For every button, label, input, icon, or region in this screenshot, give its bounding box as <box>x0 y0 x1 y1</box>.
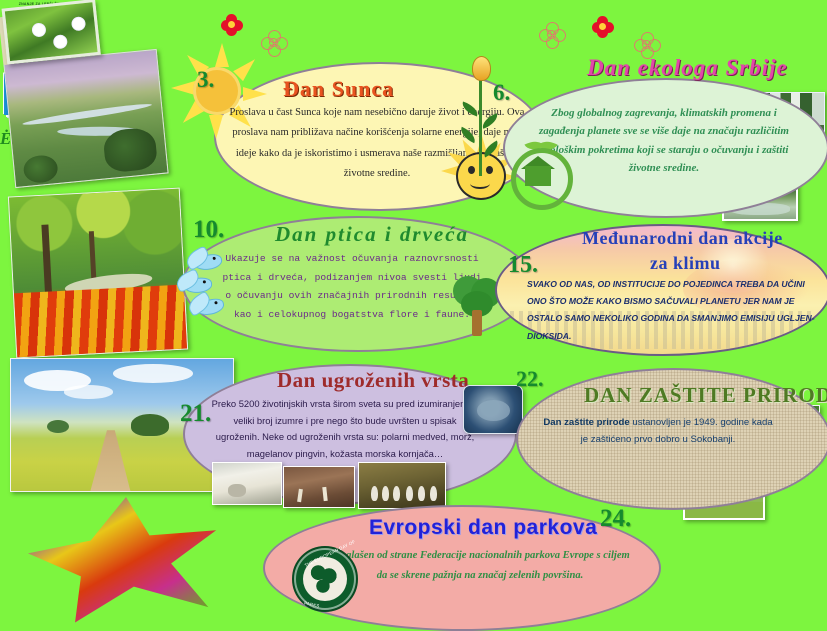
photo-detail <box>64 385 113 398</box>
photo-detail <box>113 364 193 382</box>
text-dan-ptica-i-drveca: Ukazuje se na važnost očuvanja raznovrsn… <box>218 250 486 325</box>
text-dan-ugrozenih-vrsta: Preko 5200 životinjskih vrsta širom svet… <box>211 396 479 463</box>
outline-flower-icon <box>634 32 660 58</box>
text-klima: SVAKO OD NAS, OD INSTITUCIJE DO POJEDINC… <box>527 276 819 345</box>
text-highlight: Dan zaštite prirode <box>543 417 629 428</box>
title-dan-zastite-prirode: DAN ZAŠTITE PRIRODE <box>584 383 827 408</box>
outline-flower-icon <box>261 30 287 56</box>
title-klima-line1: Međunarodni dan akcije <box>582 228 783 249</box>
photo-penguins <box>358 462 446 509</box>
photo-flowers-star <box>28 497 224 625</box>
photo-detail <box>22 154 58 184</box>
photo-detail <box>86 430 135 491</box>
eco-calendar-poster: ZNANJE ZA LEPŠI ŽIVOT! Osnovna škola "Ra… <box>0 0 827 631</box>
text-evropski-dan-parkova: Proglašen od strane Federacije nacionaln… <box>330 546 630 586</box>
day-number-22: 22. <box>516 366 544 392</box>
photo-detail <box>103 127 158 174</box>
red-flower-icon <box>221 14 243 36</box>
day-number-15: 15. <box>508 252 538 279</box>
photo-polar-bear <box>212 462 282 505</box>
photo-detail <box>22 101 152 127</box>
outline-flower-icon <box>539 22 565 48</box>
european-day-of-parks-logo: THE EUROPEAN DAY OF PARKS <box>292 546 358 612</box>
title-dan-ekologa-srbije: Dan ekologa Srbije <box>587 55 788 81</box>
title-dan-ugrozenih-vrsta: Dan ugroženih vrsta <box>277 368 469 393</box>
title-klima-line2: za klimu <box>650 253 721 274</box>
title-evropski-dan-parkova: Evropski dan parkova <box>369 516 597 540</box>
rose-icon <box>458 56 502 178</box>
photo-book-with-flowers <box>0 0 99 65</box>
photo-detail <box>14 285 187 358</box>
photo-detail <box>131 414 169 435</box>
photo-detail <box>47 420 69 433</box>
photo-walrus <box>283 466 355 508</box>
red-flower-icon <box>592 16 614 38</box>
photo-sea-turtle <box>463 385 523 434</box>
day-number-24: 24. <box>600 505 631 533</box>
text-dan-zastite-prirode: Dan zaštite prirode ustanovljen je 1949.… <box>542 415 774 449</box>
photo-tulip-park <box>8 188 188 359</box>
eco-house-icon <box>508 140 570 202</box>
title-dan-sunca: Đan Sunca <box>283 76 394 102</box>
day-number-21: 21. <box>180 400 211 428</box>
photo-river-landscape <box>3 49 168 188</box>
day-number-10: 10. <box>193 216 224 244</box>
day-number-3: 3. <box>197 67 214 93</box>
title-dan-ptica-i-drveca: Dan ptica i drveća <box>275 222 469 247</box>
